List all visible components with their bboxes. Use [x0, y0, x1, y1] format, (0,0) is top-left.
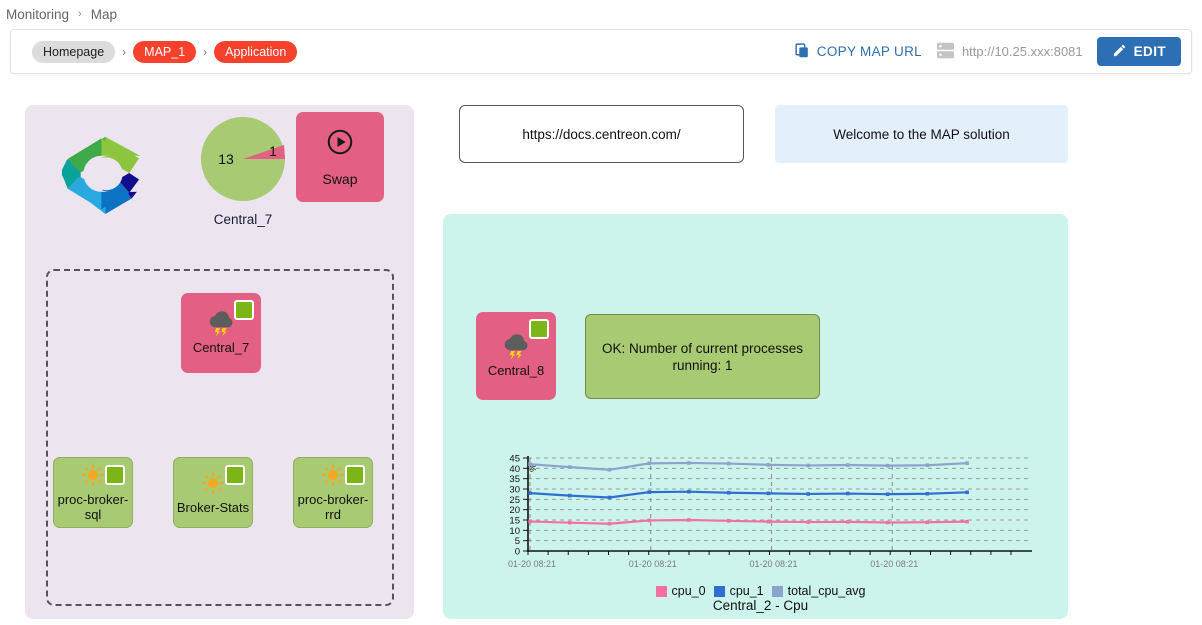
copy-map-url-label: COPY MAP URL	[817, 44, 922, 59]
header-actions: COPY MAP URL http://10.25.xxx:8081 EDIT	[794, 37, 1191, 66]
legend-label: cpu_0	[672, 584, 706, 598]
node-label: proc-broker-sql	[54, 492, 132, 522]
legend-label: total_cpu_avg	[788, 584, 866, 598]
play-circle-icon	[325, 127, 355, 162]
svg-text:5: 5	[515, 536, 520, 547]
status-message-box: OK: Number of current processes running:…	[585, 314, 820, 399]
copy-icon	[794, 42, 811, 62]
map-url-text: http://10.25.xxx:8081	[962, 44, 1083, 59]
svg-text:45: 45	[509, 454, 520, 465]
legend-label: cpu_1	[730, 584, 764, 598]
status-ok-badge	[529, 319, 549, 339]
chip-map-1[interactable]: MAP_1	[133, 41, 196, 63]
node-broker-stats[interactable]: Broker-Stats	[173, 457, 253, 528]
legend-swatch	[772, 586, 783, 597]
chip-homepage[interactable]: Homepage	[32, 41, 115, 63]
svg-text:0: 0	[515, 547, 520, 558]
svg-text:40: 40	[509, 464, 520, 475]
pie-chart-widget[interactable]: 13 1 Central_7	[185, 113, 301, 223]
legend-swatch	[656, 586, 667, 597]
node-label: Broker-Stats	[177, 500, 249, 515]
swap-label: Swap	[322, 171, 357, 187]
node-proc-broker-rrd[interactable]: proc-broker-rrd	[293, 457, 373, 528]
edit-label: EDIT	[1134, 44, 1166, 59]
legend-swatch	[714, 586, 725, 597]
breadcrumb: Monitoring › Map	[0, 0, 1202, 28]
svg-text:01-20 08:21: 01-20 08:21	[870, 559, 918, 569]
centreon-logo-icon	[62, 132, 144, 214]
node-proc-broker-sql[interactable]: proc-broker-sql	[53, 457, 133, 528]
map-url-display: http://10.25.xxx:8081	[936, 42, 1083, 62]
thunderstorm-icon	[204, 311, 238, 337]
chip-application[interactable]: Application	[214, 41, 297, 63]
svg-text:15: 15	[509, 516, 520, 527]
node-central-8[interactable]: Central_8	[476, 312, 556, 400]
status-message-text: OK: Number of current processes running:…	[598, 340, 807, 374]
chart-plot-area: 05101520253035404501-20 08:2101-20 08:21…	[488, 452, 1033, 577]
svg-text:10: 10	[509, 526, 520, 537]
url-link-text: https://docs.centreon.com/	[522, 127, 680, 142]
pie-chart-label: Central_7	[185, 212, 301, 227]
svg-text:01-20 08:21: 01-20 08:21	[629, 559, 677, 569]
chevron-right-icon: ›	[203, 45, 207, 59]
node-label: Central_8	[488, 363, 544, 378]
pie-slice-value-13: 13	[218, 151, 234, 167]
status-ok-badge	[105, 465, 125, 485]
breadcrumb-item-monitoring[interactable]: Monitoring	[6, 7, 69, 22]
pie-slice-value-1: 1	[269, 143, 277, 159]
breadcrumb-item-map[interactable]: Map	[91, 7, 117, 22]
status-ok-badge	[225, 465, 245, 485]
left-group-container[interactable]: 13 1 Central_7 Swap	[25, 105, 414, 619]
svg-text:01-20 08:21: 01-20 08:21	[749, 559, 797, 569]
node-label: Central_7	[193, 340, 249, 355]
svg-text:01-20 08:21: 01-20 08:21	[508, 559, 556, 569]
dashed-group-boundary: Central_7 proc-broker-	[46, 269, 394, 606]
thunderstorm-icon	[499, 334, 533, 360]
welcome-text-box: Welcome to the MAP solution	[775, 105, 1068, 163]
chart-legend: cpu_0 cpu_1 total_cpu_avg	[488, 584, 1033, 598]
chart-title: Central_2 - Cpu	[488, 598, 1033, 613]
swap-widget[interactable]: Swap	[296, 112, 384, 202]
svg-text:25: 25	[509, 495, 520, 506]
chevron-right-icon: ›	[78, 8, 82, 20]
edit-button[interactable]: EDIT	[1097, 37, 1181, 66]
map-breadcrumb-chips: Homepage › MAP_1 › Application	[11, 41, 297, 63]
pencil-icon	[1112, 43, 1127, 61]
svg-text:20: 20	[509, 505, 520, 516]
svg-text:35: 35	[509, 474, 520, 485]
svg-text:30: 30	[509, 485, 520, 496]
server-icon	[936, 42, 955, 62]
cpu-line-chart[interactable]: 05101520253035404501-20 08:2101-20 08:21…	[488, 452, 1033, 612]
map-header-bar: Homepage › MAP_1 › Application COPY MAP …	[10, 29, 1192, 74]
node-label: proc-broker-rrd	[294, 492, 372, 522]
right-group-container[interactable]: Central_8 OK: Number of current processe…	[443, 214, 1068, 619]
chevron-right-icon: ›	[122, 45, 126, 59]
legend-item-cpu-0: cpu_0	[656, 584, 706, 598]
node-central-7[interactable]: Central_7	[181, 293, 261, 373]
url-link-box[interactable]: https://docs.centreon.com/	[459, 105, 744, 163]
copy-map-url-button[interactable]: COPY MAP URL	[794, 42, 922, 62]
legend-item-cpu-1: cpu_1	[714, 584, 764, 598]
legend-item-total-cpu-avg: total_cpu_avg	[772, 584, 866, 598]
status-ok-badge	[234, 300, 254, 320]
map-canvas: 13 1 Central_7 Swap	[0, 76, 1202, 625]
status-ok-badge	[345, 465, 365, 485]
welcome-text: Welcome to the MAP solution	[833, 127, 1010, 142]
